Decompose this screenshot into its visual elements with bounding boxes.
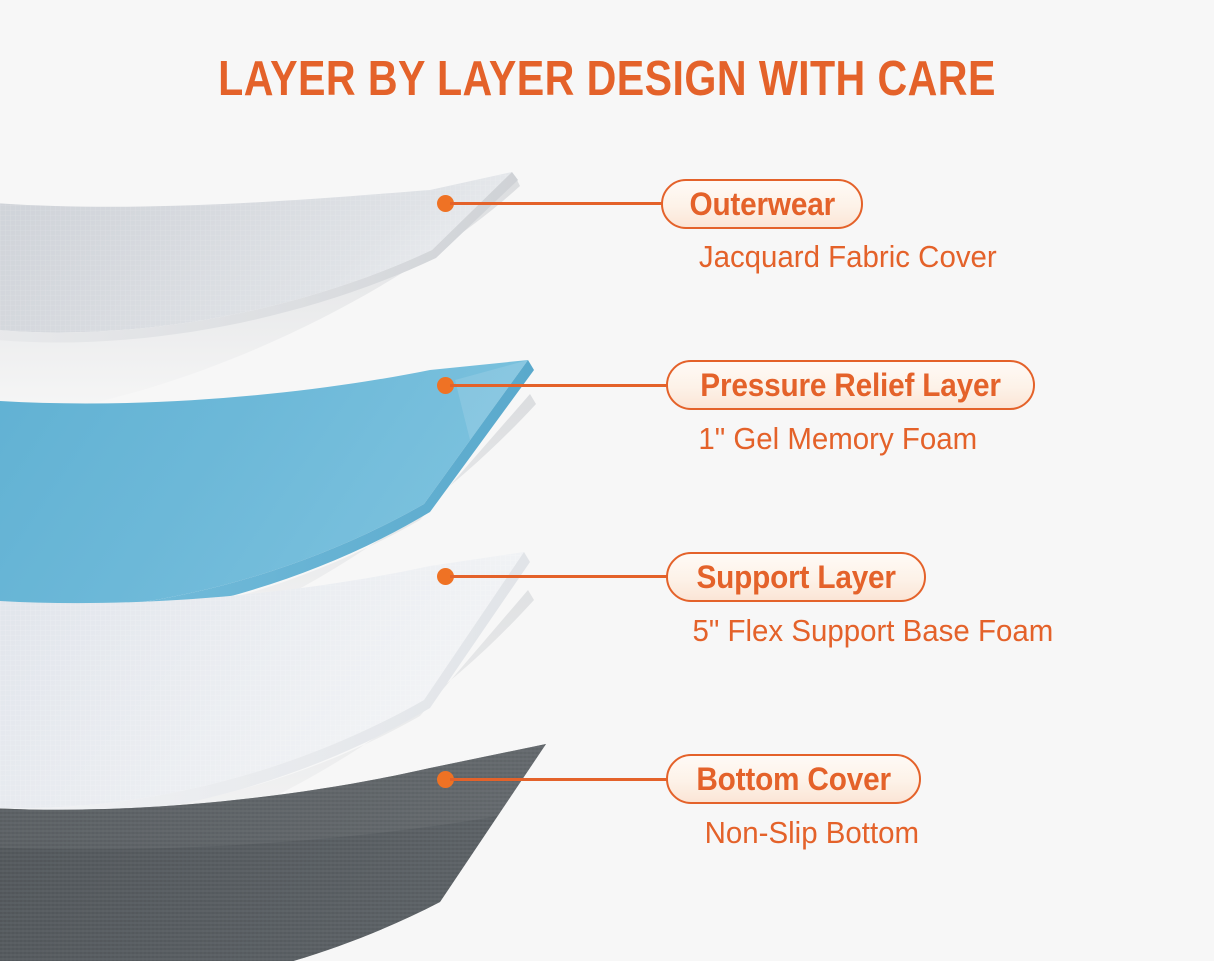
badge-label-support: Support Layer — [697, 561, 896, 593]
badge-pressure-relief[interactable]: Pressure Relief Layer — [666, 360, 1035, 410]
layer-shape-pressure-relief — [0, 360, 536, 686]
subtitle-outerwear: Jacquard Fabric Cover — [598, 238, 1098, 276]
layer-shape-bottom-cover — [0, 744, 546, 961]
badge-bottom-cover[interactable]: Bottom Cover — [666, 754, 921, 804]
subtitle-bottom-cover: Non-Slip Bottom — [562, 814, 1062, 852]
badge-label-bottom-cover: Bottom Cover — [696, 763, 891, 795]
infographic-canvas: LAYER BY LAYER DESIGN WITH CARE Outerwea… — [0, 0, 1214, 961]
callout-line-pressure-relief — [450, 384, 669, 387]
subtitle-support: 5" Flex Support Base Foam — [623, 612, 1123, 650]
layer-shape-support — [0, 552, 534, 880]
subtitle-pressure-relief: 1" Gel Memory Foam — [588, 420, 1088, 458]
subtitle-text-bottom-cover: Non-Slip Bottom — [705, 814, 919, 852]
badge-label-pressure-relief: Pressure Relief Layer — [700, 369, 1000, 401]
badge-support[interactable]: Support Layer — [666, 552, 926, 602]
subtitle-text-outerwear: Jacquard Fabric Cover — [699, 238, 997, 276]
callout-line-support — [450, 575, 669, 578]
subtitle-text-support: 5" Flex Support Base Foam — [693, 612, 1054, 650]
callout-line-bottom-cover — [450, 778, 669, 781]
callout-line-outerwear — [450, 202, 664, 205]
badge-label-outerwear: Outerwear — [689, 188, 835, 220]
subtitle-text-pressure-relief: 1" Gel Memory Foam — [699, 420, 978, 458]
page-title: LAYER BY LAYER DESIGN WITH CARE — [97, 50, 1117, 108]
badge-outerwear[interactable]: Outerwear — [661, 179, 863, 229]
